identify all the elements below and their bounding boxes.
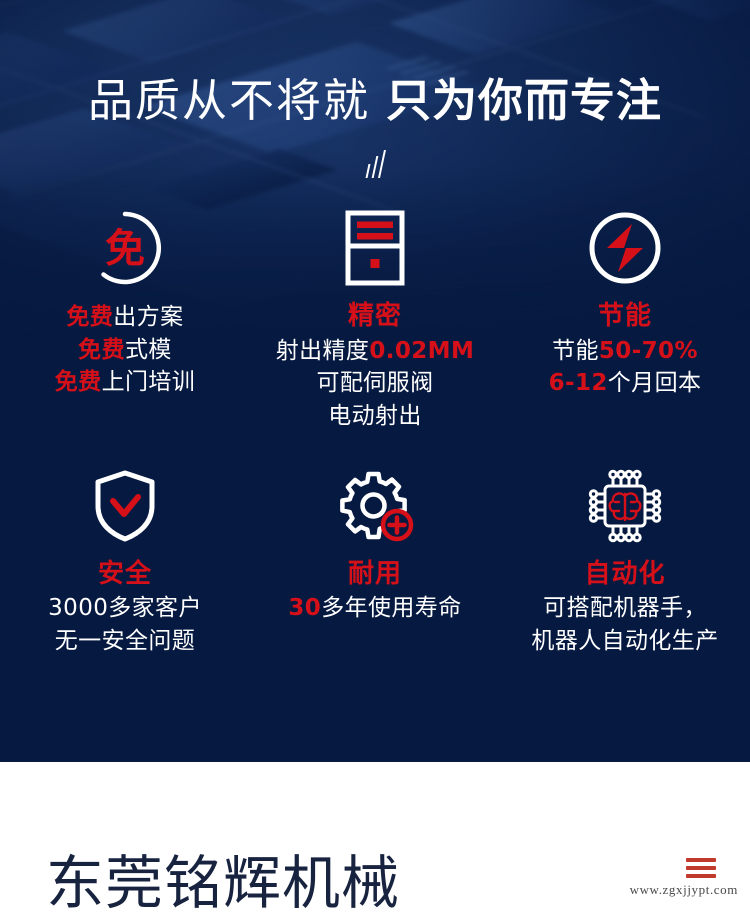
footer-section: 东莞铭辉机械 www.zgxjjypt.com: [0, 762, 750, 916]
line-highlight: 免费: [78, 337, 125, 363]
gear-plus-icon: [335, 468, 415, 544]
feature-line: 机器人自动化生产: [531, 625, 718, 658]
headline-divider: [0, 148, 750, 180]
feature-line: 免费式模: [55, 334, 195, 367]
feature-line: 3000多家客户: [48, 592, 202, 625]
feature-card-energy: 节能 节能50-70% 6-12个月回本: [500, 205, 750, 433]
headline-thin-part: 品质从不将就: [88, 74, 370, 127]
icon-slot: [344, 205, 406, 291]
line-rest: 上门培训: [102, 369, 196, 395]
feature-line: 30多年使用寿命: [288, 592, 461, 625]
feature-card-free: 免 免费出方案 免费式模 免费上门培训: [0, 205, 250, 433]
feature-line: 电动射出: [276, 400, 475, 433]
watermark-url: www.zgxjjypt.com: [630, 882, 738, 898]
feature-title: 耐用: [348, 559, 402, 591]
icon-slot: [585, 205, 665, 291]
watermark: www.zgxjjypt.com: [630, 858, 738, 898]
feature-line: 可搭配机器手，: [531, 592, 718, 625]
feature-line: 免费出方案: [55, 301, 195, 334]
headline-bold-part: 只为你而专注: [386, 74, 662, 127]
line-rest: 节能: [552, 338, 599, 364]
line-rest: 出方案: [113, 304, 183, 330]
feature-title: 精密: [348, 301, 402, 333]
feature-line: 无一安全问题: [48, 625, 202, 658]
feature-grid: 免 免费出方案 免费式模 免费上门培训: [0, 205, 750, 658]
feature-line: 可配伺服阀: [276, 367, 475, 400]
three-slanted-bars-icon: [367, 148, 383, 178]
hero-section: 品质从不将就只为你而专注 免 免费出方案 免费式模 免费上门培训: [0, 0, 750, 762]
icon-slot: [583, 463, 667, 549]
line-rest: 射出精度: [276, 338, 370, 364]
line-rest: 式模: [125, 337, 172, 363]
line-highlight: 免费: [55, 369, 102, 395]
line-rest: 多年使用寿命: [321, 595, 461, 621]
line-highlight: 免费: [66, 304, 113, 330]
icon-slot: 免: [86, 205, 164, 291]
feature-card-durable: 耐用 30多年使用寿命: [250, 463, 500, 658]
line-highlight: 0.02MM: [369, 338, 474, 364]
feature-card-automation: 自动化 可搭配机器手， 机器人自动化生产: [500, 463, 750, 658]
feature-title: 自动化: [584, 559, 665, 591]
feature-title: 节能: [598, 301, 652, 333]
feature-card-precision: 精密 射出精度0.02MM 可配伺服阀 电动射出: [250, 205, 500, 433]
page-root: 品质从不将就只为你而专注 免 免费出方案 免费式模 免费上门培训: [0, 0, 750, 916]
feature-line: 节能50-70%: [549, 335, 702, 368]
icon-slot: [335, 463, 415, 549]
page-title: 品质从不将就只为你而专注: [0, 78, 750, 123]
feature-lines: 可搭配机器手， 机器人自动化生产: [531, 592, 718, 657]
free-circle-icon: 免: [86, 209, 164, 287]
line-highlight: 50-70%: [599, 338, 698, 364]
feature-line: 6-12个月回本: [549, 367, 702, 400]
feature-lines: 节能50-70% 6-12个月回本: [549, 335, 702, 400]
three-red-bars-logo-icon: [686, 858, 716, 878]
line-highlight: 30: [288, 595, 321, 621]
feature-lines: 30多年使用寿命: [288, 592, 461, 625]
icon-slot: [92, 463, 158, 549]
company-name: 东莞铭辉机械: [46, 854, 400, 912]
energy-bolt-circle-icon: [585, 208, 665, 288]
feature-card-safety: 安全 3000多家客户 无一安全问题: [0, 463, 250, 658]
feature-line: 免费上门培训: [55, 366, 195, 399]
precision-cabinet-icon: [344, 209, 406, 287]
line-rest: 个月回本: [608, 370, 702, 396]
ai-chip-brain-icon: [583, 466, 667, 546]
feature-title: 安全: [98, 559, 152, 591]
feature-lines: 射出精度0.02MM 可配伺服阀 电动射出: [276, 335, 475, 433]
feature-line: 射出精度0.02MM: [276, 335, 475, 368]
shield-check-icon: [92, 468, 158, 544]
svg-text:免: 免: [105, 226, 145, 272]
feature-lines: 免费出方案 免费式模 免费上门培训: [55, 301, 195, 399]
feature-lines: 3000多家客户 无一安全问题: [48, 592, 202, 657]
line-highlight: 6-12: [549, 370, 608, 396]
